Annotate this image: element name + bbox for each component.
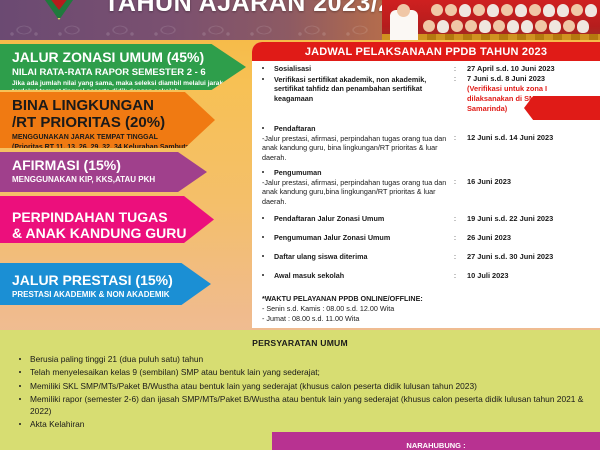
students-photo: [382, 0, 600, 40]
requirement-text: Telah menyelesaikan kelas 9 (sembilan) S…: [30, 367, 320, 377]
schedule-item-value: 26 Juni 2023: [467, 233, 597, 243]
schedule-item-value: 10 Juli 2023: [467, 271, 597, 281]
schedule-row: Pendaftaran Jalur Zonasi Umum : 19 Juni …: [252, 214, 600, 231]
pathway-afirmasi-subtitle: MENGGUNAKAN KIP, KKS,ATAU PKH: [12, 175, 197, 185]
schedule-item-value: 27 Juni s.d. 30 Juni 2023: [467, 252, 597, 262]
poster-top-banner: SMAN 16 TAHUN AJARAN 2023/2024: [0, 0, 600, 40]
schedule-heading: JADWAL PELAKSANAAN PPDB TAHUN 2023: [252, 42, 600, 61]
schedule-item-sub: -Jalur prestasi, afirmasi, perpindahan t…: [262, 134, 458, 163]
bullet-icon: [19, 423, 21, 425]
bullet-icon: [262, 67, 264, 69]
list-item: Telah menyelesaikan kelas 9 (sembilan) S…: [0, 366, 600, 378]
schedule-item-value: 19 Juni s.d. 22 Juni 2023: [467, 214, 597, 224]
pathway-zonasi-title: JALUR ZONASI UMUM (45%): [12, 50, 236, 66]
red-arrow-callout-icon: [524, 96, 600, 120]
service-hours-title: *WAKTU PELAYANAN PPDB ONLINE/OFFLINE:: [262, 294, 592, 304]
bullet-icon: [262, 217, 264, 219]
schedule-colon: :: [454, 214, 456, 223]
schedule-item-label: Pendaftaran Jalur Zonasi Umum: [262, 214, 452, 224]
requirement-text: Memiliki rapor (semester 2-6) dan ijasah…: [30, 394, 583, 416]
schedule-item: Pengumuman Jalur Zonasi Umum: [262, 233, 452, 243]
bullet-icon: [262, 236, 264, 238]
schedule-colon: :: [454, 64, 456, 73]
pathway-prestasi: JALUR PRESTASI (15%) PRESTASI AKADEMIK &…: [0, 263, 211, 305]
schedule-item: Verifikasi sertifikat akademik, non akad…: [262, 75, 452, 104]
bullet-icon: [19, 371, 21, 373]
school-logo: SMAN 16: [36, 0, 82, 20]
service-hours-line: - Senin s.d. Kamis : 08.00 s.d. 12.00 Wi…: [262, 304, 592, 314]
ppdb-poster: SMAN 16 TAHUN AJARAN 2023/2024 JALUR: [0, 0, 600, 450]
pathway-prestasi-subtitle: PRESTASI AKADEMIK & NON AKADEMIK: [12, 290, 201, 300]
pathway-zonasi-umum: JALUR ZONASI UMUM (45%) NILAI RATA-RATA …: [0, 44, 246, 90]
schedule-row: Pendaftaran -Jalur prestasi, afirmasi, p…: [252, 124, 600, 166]
pathway-perpindahan-title2: & ANAK KANDUNG GURU (5%): [12, 226, 204, 257]
schedule-item-value: 7 Juni s.d. 8 Juni 2023: [467, 74, 595, 84]
bullet-icon: [19, 358, 21, 360]
schedule-colon: :: [454, 233, 456, 242]
schedule-item-value: 16 Juni 2023: [467, 177, 597, 187]
schedule-row: Pengumuman -Jalur prestasi, afirmasi, pe…: [252, 168, 600, 212]
requirement-text: Akta Kelahiran: [30, 419, 84, 429]
requirements-heading: PERSYARATAN UMUM: [0, 330, 600, 353]
bullet-icon: [19, 385, 21, 387]
photo-figure-head: [397, 4, 410, 17]
schedule-item-value: 27 April s.d. 10 Juni 2023: [467, 64, 595, 74]
schedule-item-label: Sosialisasi: [262, 64, 452, 74]
service-hours-line: - Jumat : 08.00 s.d. 11.00 Wita: [262, 314, 592, 324]
schedule-item: Daftar ulang siswa diterima: [262, 252, 452, 262]
list-item: Berusia paling tinggi 21 (dua puluh satu…: [0, 353, 600, 365]
list-item: Memiliki rapor (semester 2-6) dan ijasah…: [0, 393, 600, 418]
schedule-item-label: Awal masuk sekolah: [262, 271, 452, 281]
schedule-item-label: Daftar ulang siswa diterima: [262, 252, 452, 262]
bullet-icon: [262, 78, 264, 80]
requirements-list: Berusia paling tinggi 21 (dua puluh satu…: [0, 353, 600, 431]
bullet-icon: [262, 274, 264, 276]
service-hours-note: *WAKTU PELAYANAN PPDB ONLINE/OFFLINE: - …: [262, 294, 592, 324]
schedule-item-sub: -Jalur prestasi, afirmasi, perpindahan t…: [262, 178, 458, 207]
pathway-bina-lingkungan: BINA LINGKUNGAN /RT PRIORITAS (20%) MENG…: [0, 92, 215, 148]
schedule-row: Pengumuman Jalur Zonasi Umum : 26 Juni 2…: [252, 233, 600, 250]
pathway-bina-title2: /RT PRIORITAS (20%): [12, 115, 205, 132]
pathway-perpindahan-tugas: PERPINDAHAN TUGAS & ANAK KANDUNG GURU (5…: [0, 196, 214, 243]
schedule-colon: :: [454, 177, 456, 186]
schedule-item: Pendaftaran Jalur Zonasi Umum: [262, 214, 452, 224]
schedule-colon: :: [454, 133, 456, 142]
bullet-icon: [19, 398, 21, 400]
schedule-row: Awal masuk sekolah : 10 Juli 2023: [252, 271, 600, 288]
schedule-item-label: Pendaftaran: [262, 124, 458, 134]
photo-head-row-1: [430, 4, 600, 17]
photo-head-row-2: [422, 20, 600, 33]
pathway-zonasi-subtitle: NILAI RATA-RATA RAPOR SEMESTER 2 - 6: [12, 67, 236, 78]
pathway-afirmasi: AFIRMASI (15%) MENGGUNAKAN KIP, KKS,ATAU…: [0, 152, 207, 192]
list-item: Akta Kelahiran: [0, 418, 600, 430]
requirement-text: Berusia paling tinggi 21 (dua puluh satu…: [30, 354, 203, 364]
pathway-afirmasi-title: AFIRMASI (15%): [12, 158, 197, 174]
schedule-item: Sosialisasi: [262, 64, 452, 74]
schedule-item-label: Pengumuman Jalur Zonasi Umum: [262, 233, 452, 243]
bullet-icon: [262, 171, 264, 173]
schedule-item: Awal masuk sekolah: [262, 271, 452, 281]
schedule-item: Pengumuman -Jalur prestasi, afirmasi, pe…: [262, 168, 458, 206]
pathway-perpindahan-title: PERPINDAHAN TUGAS: [12, 210, 204, 226]
pathway-bina-note: (Prioritas RT 11, 13, 26, 29, 32, 34 Kel…: [12, 144, 205, 153]
list-item: Memiliki SKL SMP/MTs/Paket B/Wustha atau…: [0, 380, 600, 392]
schedule-panel: JADWAL PELAKSANAAN PPDB TAHUN 2023 Sosia…: [252, 42, 600, 328]
schedule-colon: :: [454, 271, 456, 280]
bullet-icon: [262, 127, 264, 129]
schedule-item-label: Pengumuman: [262, 168, 458, 178]
contact-box: NARAHUBUNG :: [272, 432, 600, 450]
bullet-icon: [262, 255, 264, 257]
schedule-item-label: Verifikasi sertifikat akademik, non akad…: [262, 75, 452, 104]
pathway-bina-title: BINA LINGKUNGAN: [12, 98, 205, 115]
schedule-item-value: 12 Juni s.d. 14 Juni 2023: [467, 133, 597, 143]
contact-heading: NARAHUBUNG :: [406, 441, 465, 450]
schedule-item: Pendaftaran -Jalur prestasi, afirmasi, p…: [262, 124, 458, 162]
schedule-colon: :: [454, 252, 456, 261]
schedule-row: Daftar ulang siswa diterima : 27 Juni s.…: [252, 252, 600, 269]
pathway-prestasi-title: JALUR PRESTASI (15%): [12, 273, 201, 289]
schedule-colon: :: [454, 74, 456, 83]
requirement-text: Memiliki SKL SMP/MTs/Paket B/Wustha atau…: [30, 381, 477, 391]
pathway-bina-subtitle: MENGGUNAKAN JARAK TEMPAT TINGGAL: [12, 134, 205, 143]
